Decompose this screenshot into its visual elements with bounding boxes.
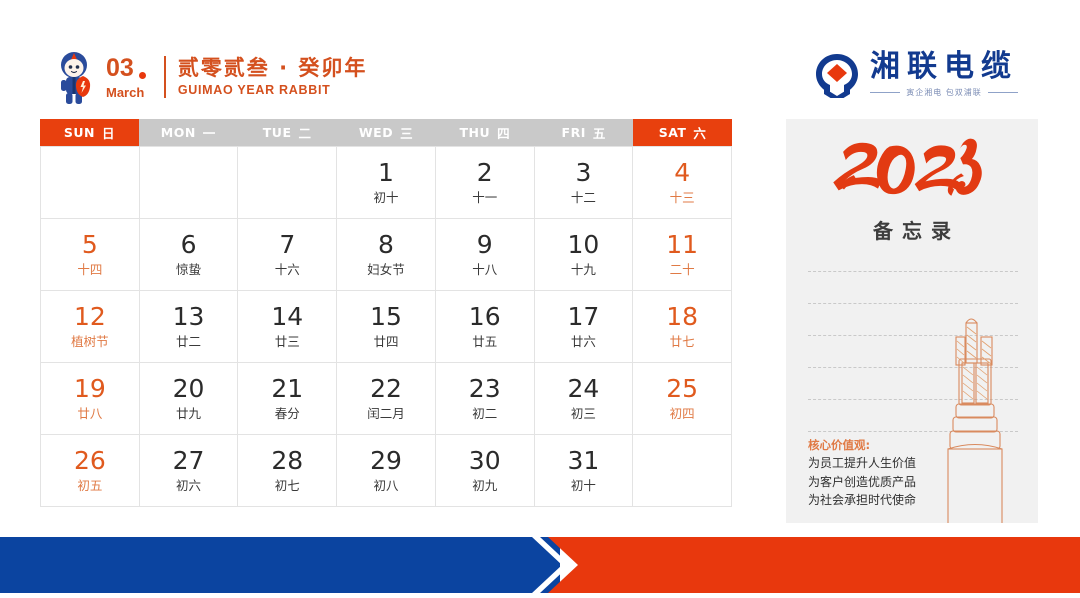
day-number: 20: [173, 376, 205, 401]
day-number: 10: [568, 232, 600, 257]
weekday-header-fri: FRI五: [534, 119, 633, 146]
brand-left-group: 03 March 贰零贰叁 · 癸卯年 GUIMAO YEAR RABBIT: [52, 48, 367, 106]
calendar-day-cell[interactable]: 25初四: [633, 363, 732, 435]
weekday-label-en: TUE: [263, 125, 292, 140]
weekday-label-en: MON: [161, 125, 196, 140]
calendar-day-cell[interactable]: 3十二: [535, 147, 634, 219]
calendar-day-cell[interactable]: 29初八: [337, 435, 436, 507]
calendar: SUN日MON一TUE二WED三THU四FRI五SAT六 1初十2十一3十二4十…: [40, 119, 732, 507]
day-lunar-label: 十八: [472, 264, 497, 277]
calendar-day-cell[interactable]: 7十六: [238, 219, 337, 291]
day-lunar-label: 初七: [275, 480, 300, 493]
calendar-cell-empty: [140, 147, 239, 219]
calendar-cell-empty: [41, 147, 140, 219]
day-number: 11: [666, 232, 698, 257]
calendar-day-cell[interactable]: 14廿三: [238, 291, 337, 363]
cable-illustration-icon: [926, 297, 1022, 523]
calendar-day-cell[interactable]: 26初五: [41, 435, 140, 507]
day-lunar-label: 十一: [472, 192, 497, 205]
day-number: 8: [378, 232, 394, 257]
day-lunar-label: 妇女节: [367, 264, 405, 277]
weekday-label-cn: 五: [593, 123, 606, 142]
weekday-header-thu: THU四: [435, 119, 534, 146]
calendar-day-cell[interactable]: 8妇女节: [337, 219, 436, 291]
day-lunar-label: 廿七: [670, 336, 695, 349]
day-number: 22: [370, 376, 402, 401]
year-art-2023: [786, 133, 1038, 203]
month-number: 03: [106, 56, 146, 81]
day-lunar-label: 十四: [77, 264, 102, 277]
day-number: 26: [74, 448, 106, 473]
day-number: 19: [74, 376, 106, 401]
day-number: 24: [568, 376, 600, 401]
header-divider: [164, 56, 166, 98]
day-lunar-label: 十三: [670, 192, 695, 205]
calendar-day-cell[interactable]: 1初十: [337, 147, 436, 219]
header-title-cn: 贰零贰叁 · 癸卯年: [178, 56, 368, 80]
day-number: 28: [271, 448, 303, 473]
page-header: 03 March 贰零贰叁 · 癸卯年 GUIMAO YEAR RABBIT 湘…: [0, 0, 1080, 118]
calendar-day-cell[interactable]: 28初七: [238, 435, 337, 507]
day-number: 16: [469, 304, 501, 329]
company-logo-icon: [814, 52, 860, 98]
day-lunar-label: 春分: [275, 408, 300, 421]
day-number: 17: [568, 304, 600, 329]
day-number: 18: [666, 304, 698, 329]
day-number: 6: [181, 232, 197, 257]
calendar-day-cell[interactable]: 30初九: [436, 435, 535, 507]
day-lunar-label: 初十: [571, 480, 596, 493]
calendar-day-cell[interactable]: 22闰二月: [337, 363, 436, 435]
company-brand-group: 湘联电缆 寅企湘电 包双浦联: [814, 52, 1018, 98]
day-lunar-label: 廿三: [275, 336, 300, 349]
calendar-day-cell[interactable]: 11二十: [633, 219, 732, 291]
mascot-icon: [52, 48, 98, 106]
calendar-day-cell[interactable]: 16廿五: [436, 291, 535, 363]
page-footer: [0, 537, 1080, 593]
day-number: 27: [173, 448, 205, 473]
day-number: 14: [271, 304, 303, 329]
day-lunar-label: 初八: [373, 480, 398, 493]
tagline-rule-left: [870, 92, 900, 93]
calendar-day-cell[interactable]: 20廿九: [140, 363, 239, 435]
day-number: 13: [173, 304, 205, 329]
day-lunar-label: 十九: [571, 264, 596, 277]
calendar-cell-empty: [238, 147, 337, 219]
day-lunar-label: 初五: [77, 480, 102, 493]
company-logo-text: 湘联电缆 寅企湘电 包双浦联: [870, 52, 1018, 98]
company-tagline: 寅企湘电 包双浦联: [900, 87, 988, 98]
day-lunar-label: 廿二: [176, 336, 201, 349]
day-number: 29: [370, 448, 402, 473]
weekday-label-cn: 二: [298, 123, 311, 142]
day-lunar-label: 初四: [670, 408, 695, 421]
calendar-day-cell[interactable]: 6惊蛰: [140, 219, 239, 291]
weekday-label-en: FRI: [562, 125, 586, 140]
calendar-grid: 1初十2十一3十二4十三5十四6惊蛰7十六8妇女节9十八10十九11二十12植树…: [40, 146, 732, 507]
day-lunar-label: 十六: [275, 264, 300, 277]
memo-panel: 备忘录 核心价值观: 为员工提升人生价值 为客户创造优质产品 为社会承担时代使命: [786, 119, 1038, 523]
calendar-day-cell[interactable]: 15廿四: [337, 291, 436, 363]
calendar-day-cell[interactable]: 24初三: [535, 363, 634, 435]
weekday-label-cn: 一: [203, 123, 216, 142]
calendar-day-cell[interactable]: 17廿六: [535, 291, 634, 363]
weekday-header-sat: SAT六: [633, 119, 732, 146]
day-number: 23: [469, 376, 501, 401]
company-tagline-row: 寅企湘电 包双浦联: [870, 87, 1018, 98]
weekday-header-mon: MON一: [139, 119, 238, 146]
day-lunar-label: 初二: [472, 408, 497, 421]
calendar-day-cell[interactable]: 21春分: [238, 363, 337, 435]
month-block: 03 March: [106, 56, 146, 99]
month-name: March: [106, 86, 144, 99]
day-number: 30: [469, 448, 501, 473]
calendar-day-cell[interactable]: 31初十: [535, 435, 634, 507]
weekday-label-cn: 日: [102, 123, 115, 142]
day-lunar-label: 初九: [472, 480, 497, 493]
day-lunar-label: 廿六: [571, 336, 596, 349]
day-number: 3: [575, 160, 591, 185]
tagline-rule-right: [988, 92, 1018, 93]
calendar-day-cell[interactable]: 10十九: [535, 219, 634, 291]
day-lunar-label: 闰二月: [367, 408, 405, 421]
day-number: 25: [666, 376, 698, 401]
calendar-weekday-header: SUN日MON一TUE二WED三THU四FRI五SAT六: [40, 119, 732, 146]
weekday-label-en: SUN: [64, 125, 95, 140]
calendar-day-cell[interactable]: 18廿七: [633, 291, 732, 363]
weekday-label-cn: 六: [693, 123, 706, 142]
day-number: 9: [477, 232, 493, 257]
day-lunar-label: 初三: [571, 408, 596, 421]
day-lunar-label: 廿八: [77, 408, 102, 421]
calendar-day-cell[interactable]: 9十八: [436, 219, 535, 291]
day-number: 7: [279, 232, 295, 257]
day-lunar-label: 植树节: [71, 336, 109, 349]
day-lunar-label: 惊蛰: [176, 264, 201, 277]
day-number: 15: [370, 304, 402, 329]
calendar-day-cell[interactable]: 5十四: [41, 219, 140, 291]
day-lunar-label: 廿四: [373, 336, 398, 349]
day-lunar-label: 廿五: [472, 336, 497, 349]
day-number: 12: [74, 304, 106, 329]
memo-title: 备忘录: [786, 215, 1038, 244]
weekday-label-en: THU: [460, 125, 491, 140]
weekday-label-en: SAT: [659, 125, 687, 140]
calendar-day-cell[interactable]: 27初六: [140, 435, 239, 507]
day-number: 4: [674, 160, 690, 185]
day-lunar-label: 初六: [176, 480, 201, 493]
header-title-en: GUIMAO YEAR RABBIT: [178, 82, 368, 98]
day-number: 2: [477, 160, 493, 185]
weekday-header-tue: TUE二: [238, 119, 337, 146]
weekday-label-cn: 四: [497, 123, 510, 142]
weekday-label-en: WED: [359, 125, 393, 140]
day-number: 31: [568, 448, 600, 473]
header-title-block: 贰零贰叁 · 癸卯年 GUIMAO YEAR RABBIT: [178, 56, 368, 98]
day-number: 5: [82, 232, 98, 257]
calendar-day-cell[interactable]: 2十一: [436, 147, 535, 219]
day-number: 1: [378, 160, 394, 185]
day-number: 21: [271, 376, 303, 401]
calendar-day-cell[interactable]: 13廿二: [140, 291, 239, 363]
day-lunar-label: 十二: [571, 192, 596, 205]
day-lunar-label: 廿九: [176, 408, 201, 421]
weekday-header-wed: WED三: [337, 119, 436, 146]
weekday-header-sun: SUN日: [40, 119, 139, 146]
calendar-day-cell[interactable]: 12植树节: [41, 291, 140, 363]
company-name-cn: 湘联电缆: [870, 52, 1018, 82]
day-lunar-label: 初十: [373, 192, 398, 205]
weekday-label-cn: 三: [400, 123, 413, 142]
calendar-cell-empty: [633, 435, 732, 507]
calendar-day-cell[interactable]: 4十三: [633, 147, 732, 219]
calendar-day-cell[interactable]: 19廿八: [41, 363, 140, 435]
calendar-day-cell[interactable]: 23初二: [436, 363, 535, 435]
day-lunar-label: 二十: [670, 264, 695, 277]
